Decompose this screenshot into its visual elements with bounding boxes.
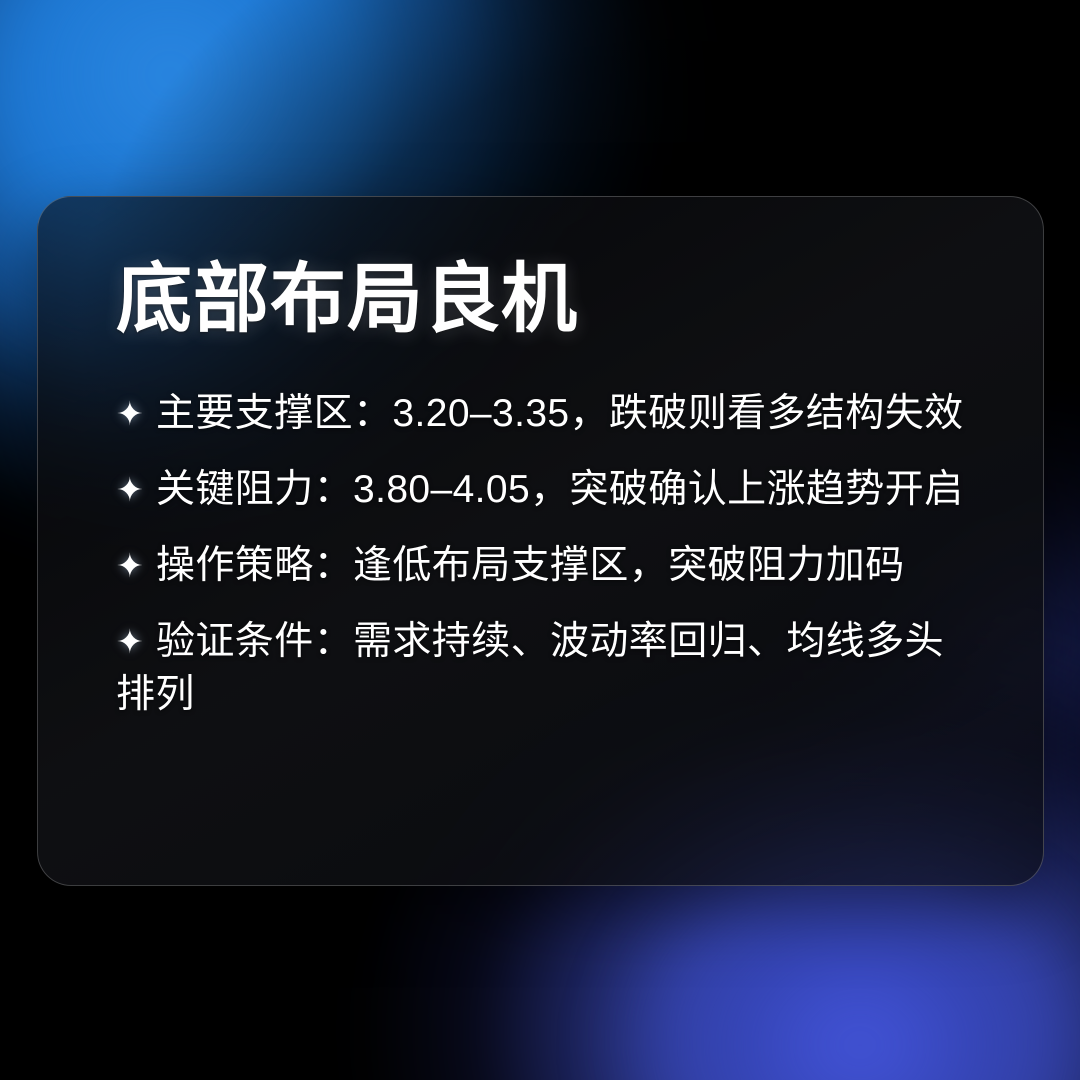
- content-card: 底部布局良机 ✦主要支撑区：3.20–3.35，跌破则看多结构失效 ✦关键阻力：…: [37, 196, 1044, 886]
- bullet-list: ✦主要支撑区：3.20–3.35，跌破则看多结构失效 ✦关键阻力：3.80–4.…: [116, 387, 1003, 722]
- list-item: ✦关键阻力：3.80–4.05，突破确认上涨趋势开启: [116, 463, 978, 517]
- four-pointed-star-icon: ✦: [116, 397, 156, 430]
- poster-canvas: 底部布局良机 ✦主要支撑区：3.20–3.35，跌破则看多结构失效 ✦关键阻力：…: [0, 0, 1080, 1080]
- list-item-label: 验证条件：需求持续、波动率回归、均线多头排列: [116, 620, 944, 717]
- page-title: 底部布局良机: [116, 259, 1003, 341]
- four-pointed-star-icon: ✦: [116, 625, 156, 658]
- list-item: ✦验证条件：需求持续、波动率回归、均线多头排列: [116, 615, 978, 723]
- card-inner: 底部布局良机 ✦主要支撑区：3.20–3.35，跌破则看多结构失效 ✦关键阻力：…: [38, 197, 1043, 722]
- four-pointed-star-icon: ✦: [116, 549, 156, 582]
- four-pointed-star-icon: ✦: [116, 473, 156, 506]
- list-item: ✦操作策略：逢低布局支撑区，突破阻力加码: [116, 539, 978, 593]
- list-item-label: 关键阻力：3.80–4.05，突破确认上涨趋势开启: [156, 468, 964, 511]
- list-item-label: 主要支撑区：3.20–3.35，跌破则看多结构失效: [156, 392, 964, 435]
- list-item-label: 操作策略：逢低布局支撑区，突破阻力加码: [156, 544, 905, 587]
- list-item: ✦主要支撑区：3.20–3.35，跌破则看多结构失效: [116, 387, 978, 441]
